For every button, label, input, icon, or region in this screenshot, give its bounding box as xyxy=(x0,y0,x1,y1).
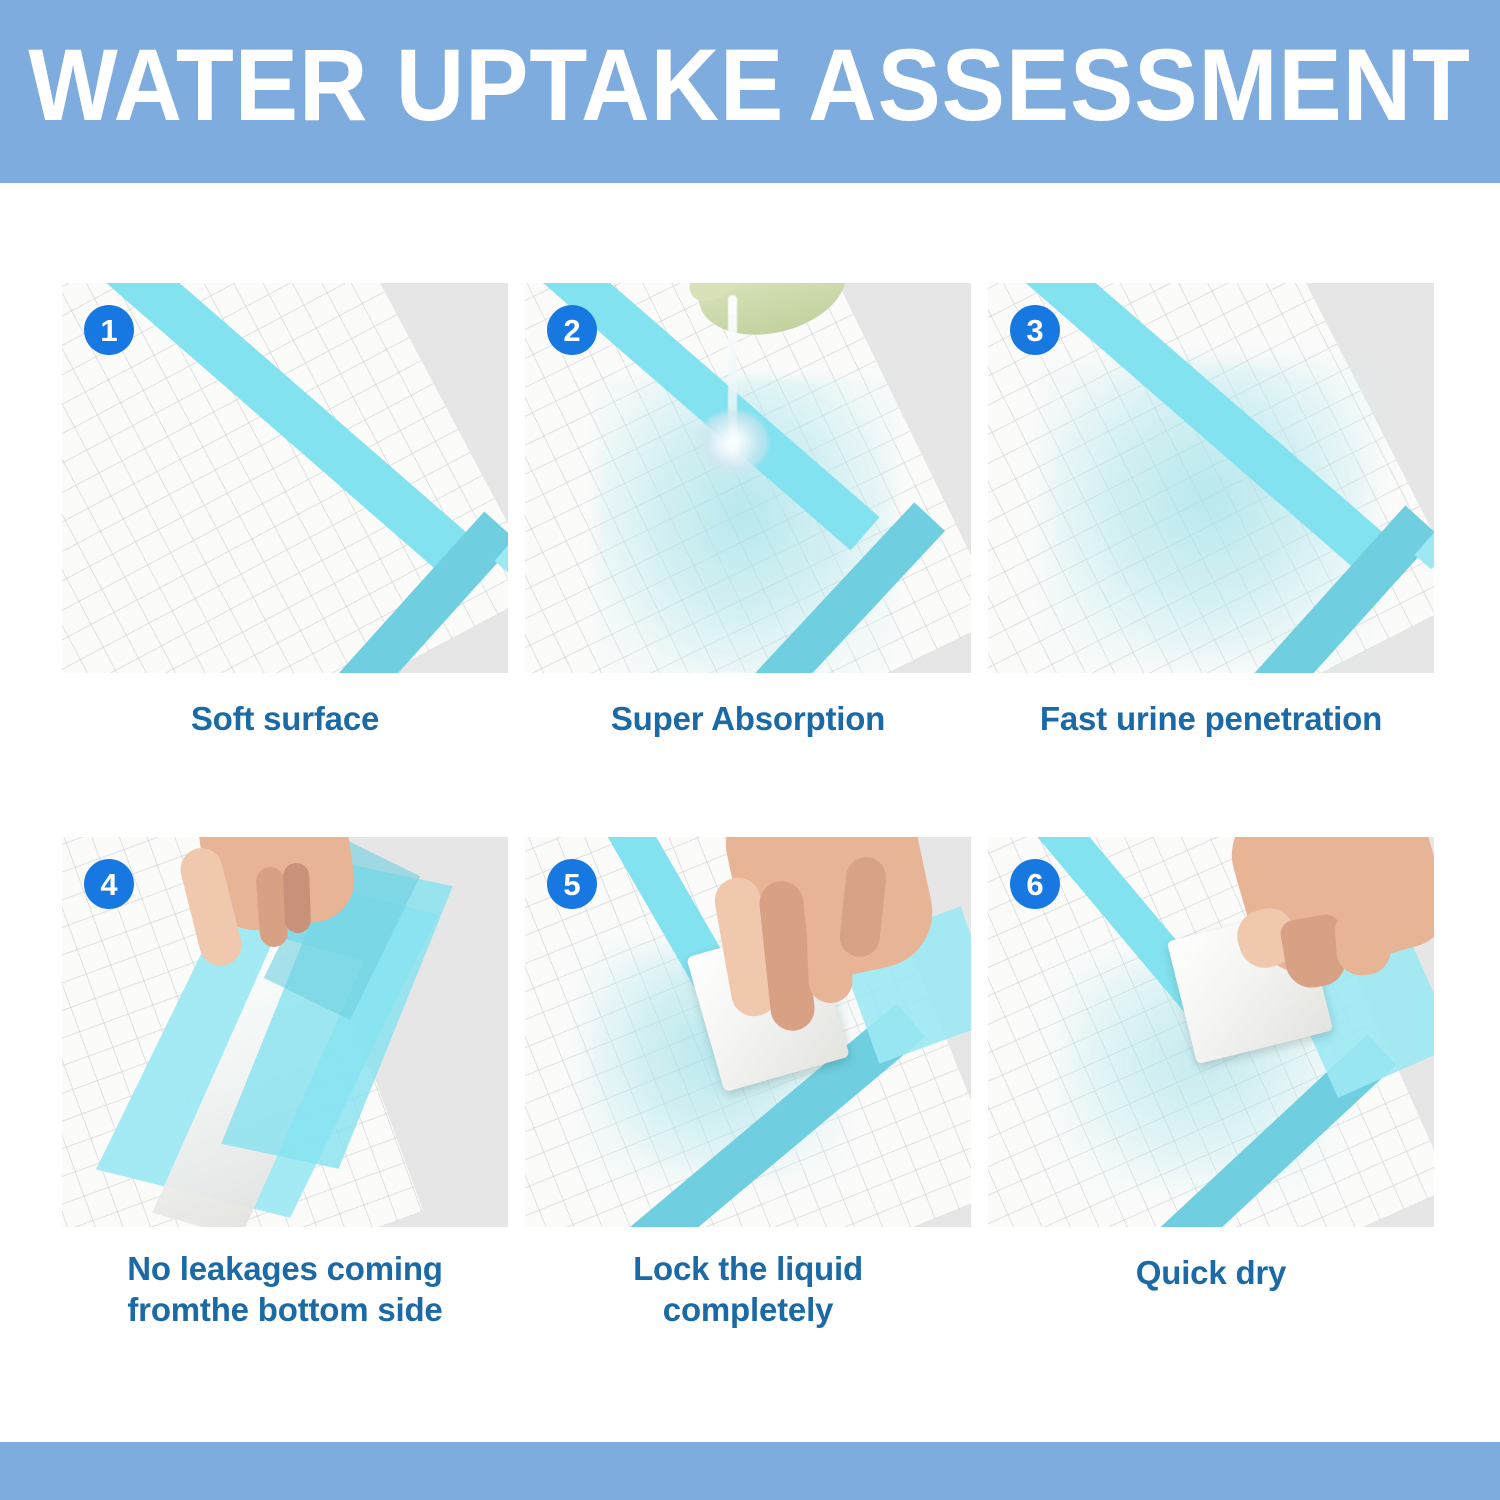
step-caption-1: Soft surface xyxy=(62,673,508,739)
liquid-splash xyxy=(697,411,769,473)
caption-line: No leakages coming xyxy=(62,1249,508,1289)
step-card-6: 6 Quick dry xyxy=(988,837,1434,1330)
step-photo-1: 1 xyxy=(62,283,508,673)
caption-line: fromthe bottom side xyxy=(62,1290,508,1330)
caption-line: Quick dry xyxy=(988,1253,1434,1293)
steps-grid: 1 Soft surface 2 xyxy=(62,283,1434,1330)
step-card-1: 1 Soft surface xyxy=(62,283,508,739)
step-badge-3: 3 xyxy=(1010,305,1060,355)
steps-row-top: 1 Soft surface 2 xyxy=(62,283,1434,739)
caption-line: Fast urine penetration xyxy=(988,699,1434,739)
step-badge-1: 1 xyxy=(84,305,134,355)
step-photo-2: 2 xyxy=(525,283,971,673)
step-card-5: 5 Lock the liquid completely xyxy=(525,837,971,1330)
page-title: WATER UPTAKE ASSESSMENT xyxy=(29,34,1472,150)
step-caption-6: Quick dry xyxy=(988,1227,1434,1293)
step-card-4: 4 No leakages coming fromthe bottom side xyxy=(62,837,508,1330)
caption-line: Lock the liquid xyxy=(525,1249,971,1289)
caption-line: Super Absorption xyxy=(525,699,971,739)
row-spacer xyxy=(62,739,1434,837)
steps-row-bottom: 4 No leakages coming fromthe bottom side xyxy=(62,837,1434,1330)
step-photo-3: 3 xyxy=(988,283,1434,673)
step-badge-6: 6 xyxy=(1010,859,1060,909)
step-badge-5: 5 xyxy=(547,859,597,909)
footer-banner xyxy=(0,1442,1500,1500)
step-badge-2: 2 xyxy=(547,305,597,355)
header-banner: WATER UPTAKE ASSESSMENT xyxy=(0,0,1500,183)
finger xyxy=(283,863,311,934)
caption-line: Soft surface xyxy=(62,699,508,739)
step-card-2: 2 Super Absorption xyxy=(525,283,971,739)
step-badge-4: 4 xyxy=(84,859,134,909)
step-photo-4: 4 xyxy=(62,837,508,1227)
finger xyxy=(1334,913,1392,977)
caption-line: completely xyxy=(525,1290,971,1330)
step-caption-2: Super Absorption xyxy=(525,673,971,739)
step-caption-4: No leakages coming fromthe bottom side xyxy=(62,1227,508,1330)
step-caption-5: Lock the liquid completely xyxy=(525,1227,971,1330)
step-photo-6: 6 xyxy=(988,837,1434,1227)
step-photo-5: 5 xyxy=(525,837,971,1227)
step-card-3: 3 Fast urine penetration xyxy=(988,283,1434,739)
step-caption-3: Fast urine penetration xyxy=(988,673,1434,739)
